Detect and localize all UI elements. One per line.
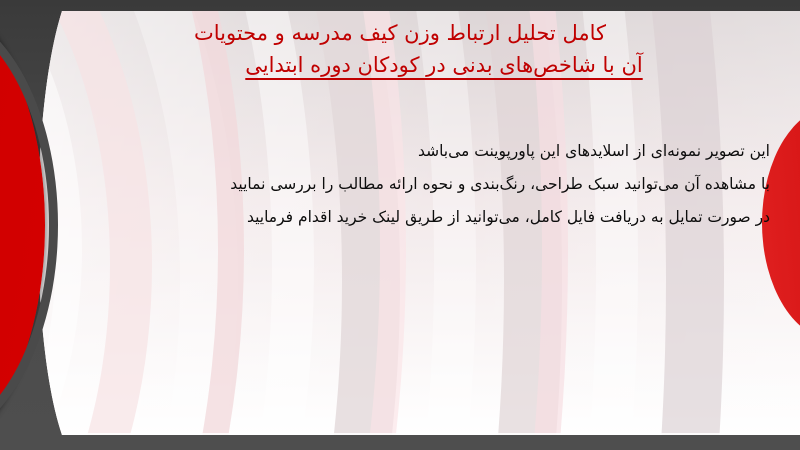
slide-body: این تصویر نمونه‌ای از اسلایدهای این پاور… [150,135,770,234]
body-line-3: در صورت تمایل به دریافت فایل کامل، می‌تو… [150,201,770,234]
slide-canvas: کامل تحلیل ارتباط وزن کیف مدرسه و محتویا… [0,0,800,450]
slide-title: کامل تحلیل ارتباط وزن کیف مدرسه و محتویا… [120,17,680,81]
title-line-2: آن با شاخص‌های بدنی در کودکان دوره ابتدا… [120,49,680,81]
body-line-1: این تصویر نمونه‌ای از اسلایدهای این پاور… [150,135,770,168]
slide-content-panel: کامل تحلیل ارتباط وزن کیف مدرسه و محتویا… [0,11,800,435]
body-line-2: با مشاهده آن می‌توانید سبک طراحی، رنگ‌بن… [150,168,770,201]
title-line-1: کامل تحلیل ارتباط وزن کیف مدرسه و محتویا… [120,17,680,49]
title-line-2-text: آن با شاخص‌های بدنی در کودکان دوره ابتدا… [245,53,642,77]
